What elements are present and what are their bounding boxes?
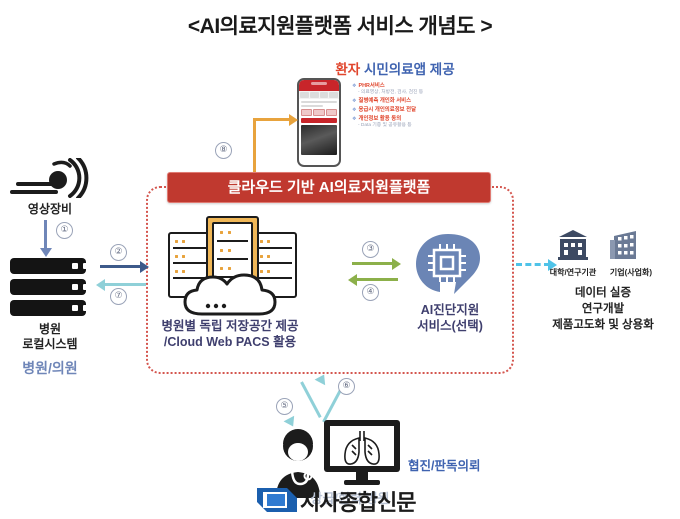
phone-content [299, 99, 339, 157]
watermark-text: 시사종합신문 [300, 485, 470, 517]
research-description: 데이터 실증 연구개발 제품고도화 및 상용화 [528, 285, 678, 333]
desc-line3: 제품고도화 및 상용화 [552, 319, 654, 331]
step-1-label: ① [56, 222, 73, 239]
step-8-label: ⑧ [215, 142, 232, 159]
app-section-heading: 환자 시민의료앱 제공 [280, 58, 510, 78]
imaging-equipment-icon [8, 158, 92, 198]
cloud-storage-label: 병원별 독립 저장공간 제공 /Cloud Web PACS 활용 [140, 318, 320, 351]
smartphone-mockup [297, 78, 341, 167]
company-building-icon [608, 228, 642, 262]
cloud-icon [182, 272, 280, 318]
feature-sub: - Data 기증 및 공유활용 등 [352, 123, 477, 129]
phone-tab-bar [299, 91, 339, 99]
chest-xray-monitor-icon [322, 418, 402, 488]
phone-xray-thumbnail [301, 125, 337, 155]
step-4-label: ④ [362, 284, 379, 301]
arrow-1-line [44, 220, 47, 250]
list-item: 개인정보 활용 동의 - Data 기증 및 공유활용 등 [352, 116, 477, 128]
step-2-label: ② [110, 244, 127, 261]
list-item: PHR서비스 - 의료영상, 처방전, 검사, 검진 등 [352, 83, 477, 95]
list-item: 응급시 개인의료정보 전달 [352, 107, 477, 114]
desc-line2: 연구개발 [582, 303, 624, 315]
app-heading-main: 시민의료앱 제공 [364, 62, 455, 77]
hospital-clinic-label: 병원/의원 [0, 358, 100, 378]
step-6-label: ⑥ [338, 378, 355, 395]
arrow-3-line [352, 262, 394, 265]
page-title: <AI의료지원플랫폼 서비스 개념도 > [0, 10, 680, 40]
phone-highlight-bar [301, 118, 337, 123]
list-item: 질병예측 개인화 서비스 [352, 98, 477, 105]
arrow-4-head [348, 274, 357, 286]
app-heading-prefix: 환자 [335, 62, 360, 77]
phone-chip-row [301, 109, 337, 116]
step-5-label: ⑤ [276, 398, 293, 415]
feature-title: PHR서비스 [352, 83, 477, 90]
step-7-label: ⑦ [110, 288, 127, 305]
arrow-3-head [392, 258, 401, 270]
dashed-arrow-to-research [516, 263, 550, 266]
arrow-2-line [100, 265, 142, 268]
phone-app-header [299, 80, 339, 91]
arrow-1-head [40, 248, 52, 257]
local-label-line1: 병원 [39, 322, 61, 336]
desc-line1: 데이터 실증 [575, 287, 631, 299]
arrow-7-line [104, 283, 146, 286]
local-server-icon [10, 258, 86, 321]
arrow-4-line [356, 278, 398, 281]
arrow-2-head [140, 261, 149, 273]
university-building-icon [556, 228, 590, 262]
cloud-storage-graphic [168, 214, 293, 314]
feature-title: 응급시 개인의료정보 전달 [352, 107, 477, 114]
feature-title: 질병예측 개인화 서비스 [352, 98, 477, 105]
ai-label-line2: 서비스(선택) [417, 319, 483, 333]
app-feature-list: PHR서비스 - 의료영상, 처방전, 검사, 검진 등 질병예측 개인화 서비… [352, 83, 477, 131]
platform-banner: 클라우드 기반 AI의료지원플랫폼 [167, 172, 491, 203]
ai-service-label: AI진단지원 서비스(선택) [395, 302, 505, 335]
arrow-7-head [96, 279, 105, 291]
local-system-label: 병원 로컬시스템 [0, 322, 100, 352]
cloud-label-line2: /Cloud Web PACS 활용 [164, 335, 296, 349]
local-label-line2: 로컬시스템 [22, 337, 77, 351]
ai-label-line1: AI진단지원 [421, 303, 480, 317]
scanner-label: 영상장비 [0, 200, 100, 217]
cloud-label-line1: 병원별 독립 저장공간 제공 [162, 319, 299, 333]
feature-title: 개인정보 활용 동의 [352, 116, 477, 123]
step-3-label: ③ [362, 241, 379, 258]
ai-brain-chip-icon [410, 232, 486, 296]
consultation-label: 협진/판독의뢰 [408, 455, 528, 474]
company-label: 기업(사업화) [598, 267, 664, 278]
feature-sub: - 의료영상, 처방전, 검사, 검진 등 [352, 90, 477, 96]
arrow-5-line [300, 381, 321, 418]
